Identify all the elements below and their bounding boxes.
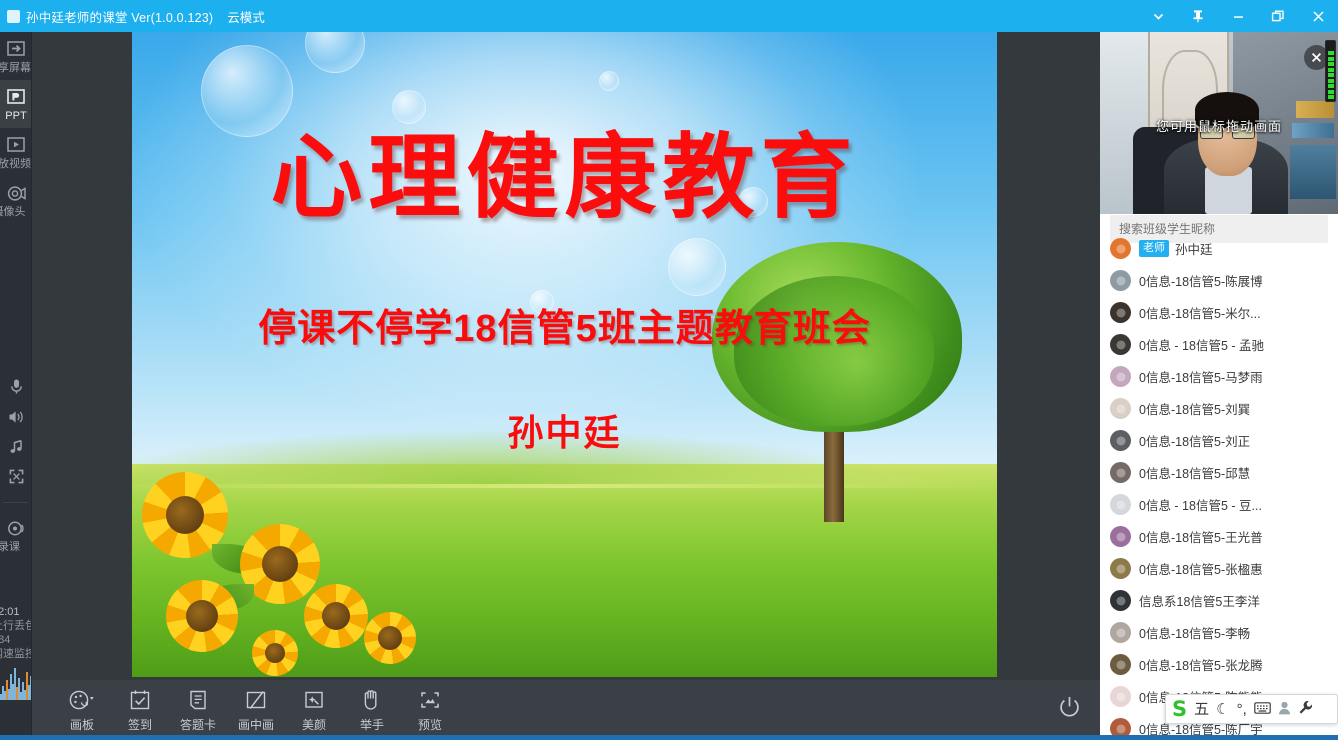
window-title: 孙中廷老师的课堂 Ver(1.0.0.123) xyxy=(26,7,213,26)
share-screen-icon xyxy=(5,39,27,59)
sidebar-label-ppt: PPT xyxy=(5,109,26,123)
pin-icon[interactable] xyxy=(1178,0,1218,32)
sidebar-item-fullscreen[interactable] xyxy=(0,464,32,494)
camera-icon xyxy=(5,183,27,203)
taskbar-strip xyxy=(0,735,1338,740)
record-icon xyxy=(5,518,27,538)
sidebar-divider xyxy=(3,502,28,503)
avatar xyxy=(1110,302,1131,323)
toolbar-item-signin[interactable]: 签到 xyxy=(112,682,168,738)
slide-title: 心理健康教育 xyxy=(132,132,997,224)
participant-name: 信息系18信管5王李洋 xyxy=(1139,591,1260,610)
avatar xyxy=(1110,398,1131,419)
sidebar-item-speaker[interactable] xyxy=(0,404,32,434)
participant-name: 0信息-18信管5-刘巽 xyxy=(1139,399,1250,418)
toolbar-item-preview[interactable]: 预览 xyxy=(402,682,458,738)
participant-row[interactable]: 0信息-18信管5-刘正 xyxy=(1100,424,1338,456)
sidebar-item-music[interactable] xyxy=(0,434,32,464)
speaker-icon xyxy=(8,409,25,430)
avatar xyxy=(1110,622,1131,643)
signal-strength-icon xyxy=(1325,40,1336,102)
avatar xyxy=(1110,366,1131,387)
participant-row[interactable]: 0信息-18信管5-陈展博 xyxy=(1100,264,1338,296)
participant-name: 0信息-18信管5-刘正 xyxy=(1139,431,1250,450)
toolbar-label-raise-hand: 举手 xyxy=(360,716,384,733)
music-icon xyxy=(9,439,24,460)
toolbar-item-beauty[interactable]: 美颜 xyxy=(286,682,342,738)
preview-icon xyxy=(419,687,441,713)
status-time: 02:01 xyxy=(0,605,31,619)
microphone-icon xyxy=(9,378,24,400)
toolbar-item-whiteboard[interactable]: 画板 xyxy=(54,682,110,738)
slide-canvas[interactable]: 心理健康教育 停课不停学18信管5班主题教育班会 孙中廷 xyxy=(132,32,997,677)
avatar xyxy=(1110,558,1131,579)
sidebar-item-play-video[interactable]: 播放视频 xyxy=(0,128,32,176)
participant-name: 0信息 - 18信管5 - 豆... xyxy=(1139,495,1262,514)
toolbar-label-whiteboard: 画板 xyxy=(70,716,94,733)
teacher-video-preview[interactable]: 您可用鼠标拖动画面 xyxy=(1100,32,1338,214)
participant-row[interactable]: 0信息 - 18信管5 - 孟驰 xyxy=(1100,328,1338,360)
avatar xyxy=(1110,590,1131,611)
participant-row[interactable]: 老师孙中廷 xyxy=(1100,232,1338,264)
toolbar-label-beauty: 美颜 xyxy=(302,716,326,733)
sidebar-label-camera: 摄像头 xyxy=(7,205,26,219)
teacher-badge: 老师 xyxy=(1139,240,1169,257)
drag-hint-text: 您可用鼠标拖动画面 xyxy=(1100,116,1338,135)
sidebar-item-camera[interactable]: 摄像头 xyxy=(0,176,32,224)
toolbar-item-pip[interactable]: 画中画 xyxy=(228,682,284,738)
beauty-icon xyxy=(303,687,325,713)
sidebar-label-play-video: 播放视频 xyxy=(1,157,31,171)
avatar xyxy=(1110,526,1131,547)
participant-list[interactable]: 老师孙中廷0信息-18信管5-陈展博0信息-18信管5-米尔...0信息 - 1… xyxy=(1100,232,1338,740)
keyboard-icon[interactable] xyxy=(1254,702,1271,717)
status-monitor-label: 网速监控: xyxy=(0,647,31,661)
avatar xyxy=(1110,654,1131,675)
status-packet-loss: 上行丢包 xyxy=(0,619,31,633)
participant-row[interactable]: 0信息-18信管5-米尔... xyxy=(1100,296,1338,328)
participant-row[interactable]: 0信息-18信管5-李畅 xyxy=(1100,616,1338,648)
chevron-down-icon[interactable] xyxy=(1138,0,1178,32)
minimize-button[interactable] xyxy=(1218,0,1258,32)
moon-icon[interactable]: ☾ xyxy=(1216,702,1229,717)
participant-row[interactable]: 信息系18信管5王李洋 xyxy=(1100,584,1338,616)
participant-row[interactable]: 0信息-18信管5-王光普 xyxy=(1100,520,1338,552)
participant-row[interactable]: 0信息-18信管5-刘巽 xyxy=(1100,392,1338,424)
participant-row[interactable]: 0信息 - 18信管5 - 豆... xyxy=(1100,488,1338,520)
participant-name: 0信息-18信管5-米尔... xyxy=(1139,303,1261,322)
restore-button[interactable] xyxy=(1258,0,1298,32)
signin-icon xyxy=(129,687,151,713)
participant-row[interactable]: 0信息-18信管5-张楹惠 xyxy=(1100,552,1338,584)
avatar xyxy=(1110,270,1131,291)
participant-name: 0信息-18信管5-马梦雨 xyxy=(1139,367,1263,386)
video-icon xyxy=(5,135,27,155)
avatar xyxy=(1110,686,1131,707)
app-window: 孙中廷老师的课堂 Ver(1.0.0.123) 云模式 xyxy=(0,0,1338,740)
palette-icon xyxy=(69,687,95,713)
toolbar-label-preview: 预览 xyxy=(418,716,442,733)
participant-name: 0信息-18信管5-张楹惠 xyxy=(1139,559,1263,578)
wrench-icon[interactable] xyxy=(1298,700,1313,718)
network-meter xyxy=(0,664,32,700)
picture-in-picture-icon xyxy=(245,687,267,713)
ime-floating-bar[interactable]: S 五 ☾ °, xyxy=(1165,694,1338,724)
app-icon xyxy=(2,0,24,32)
avatar xyxy=(1110,430,1131,451)
cloud-mode-label: 云模式 xyxy=(227,7,265,26)
sidebar-item-share-screen[interactable]: 共享屏幕 xyxy=(0,32,32,80)
avatar xyxy=(1110,334,1131,355)
toolbar-label-answer-card: 答题卡 xyxy=(180,716,216,733)
close-button[interactable] xyxy=(1298,0,1338,32)
chinese-mode-icon[interactable]: 五 xyxy=(1194,702,1209,717)
toolbar-label-signin: 签到 xyxy=(128,716,152,733)
user-icon[interactable] xyxy=(1278,701,1291,718)
participant-name: 0信息-18信管5-张龙腾 xyxy=(1139,655,1263,674)
slide-subtitle: 停课不停学18信管5班主题教育班会 xyxy=(132,297,997,352)
participant-name: 0信息-18信管5-李畅 xyxy=(1139,623,1250,642)
raise-hand-icon xyxy=(362,687,382,713)
left-sidebar: 共享屏幕 PPT 播放视频 xyxy=(0,32,32,740)
answer-card-icon xyxy=(188,687,208,713)
sidebar-item-microphone[interactable] xyxy=(0,374,32,404)
avatar xyxy=(1110,494,1131,515)
title-bar: 孙中廷老师的课堂 Ver(1.0.0.123) 云模式 xyxy=(0,0,1338,32)
participant-name: 0信息-18信管5-邱慧 xyxy=(1139,463,1250,482)
presentation-stage: 心理健康教育 停课不停学18信管5班主题教育班会 孙中廷 xyxy=(32,32,1100,740)
participant-name: 孙中廷 xyxy=(1175,239,1213,258)
sidebar-label-share-screen: 共享屏幕 xyxy=(1,61,31,75)
sogou-logo-icon[interactable]: S xyxy=(1172,699,1187,720)
ppt-icon xyxy=(5,87,27,107)
slide-text-group: 心理健康教育 停课不停学18信管5班主题教育班会 孙中廷 xyxy=(132,32,997,677)
participant-name: 0信息 - 18信管5 - 孟驰 xyxy=(1139,335,1264,354)
bottom-toolbar: 画板 签到 答题卡 xyxy=(32,680,1100,740)
toolbar-item-raise-hand[interactable]: 举手 xyxy=(344,682,400,738)
punctuation-icon[interactable]: °, xyxy=(1237,702,1247,717)
avatar xyxy=(1110,462,1131,483)
network-status: 02:01 上行丢包 784 网速监控: xyxy=(0,605,31,661)
participant-name: 0信息-18信管5-王光普 xyxy=(1139,527,1263,546)
participant-row[interactable]: 0信息-18信管5-马梦雨 xyxy=(1100,360,1338,392)
status-value: 784 xyxy=(0,633,31,647)
fullscreen-icon xyxy=(9,469,24,489)
participant-row[interactable]: 0信息-18信管5-张龙腾 xyxy=(1100,648,1338,680)
toolbar-label-pip: 画中画 xyxy=(238,716,274,733)
toolbar-item-answer-card[interactable]: 答题卡 xyxy=(170,682,226,738)
power-icon xyxy=(1056,694,1083,726)
avatar xyxy=(1110,238,1131,259)
end-class-button[interactable] xyxy=(1038,680,1100,740)
sidebar-label-record: 录课 xyxy=(12,540,20,554)
sidebar-item-record[interactable]: 录课 xyxy=(0,511,32,559)
sidebar-item-ppt[interactable]: PPT xyxy=(0,80,32,128)
slide-author: 孙中廷 xyxy=(132,404,997,456)
participant-row[interactable]: 0信息-18信管5-邱慧 xyxy=(1100,456,1338,488)
participant-name: 0信息-18信管5-陈展博 xyxy=(1139,271,1263,290)
